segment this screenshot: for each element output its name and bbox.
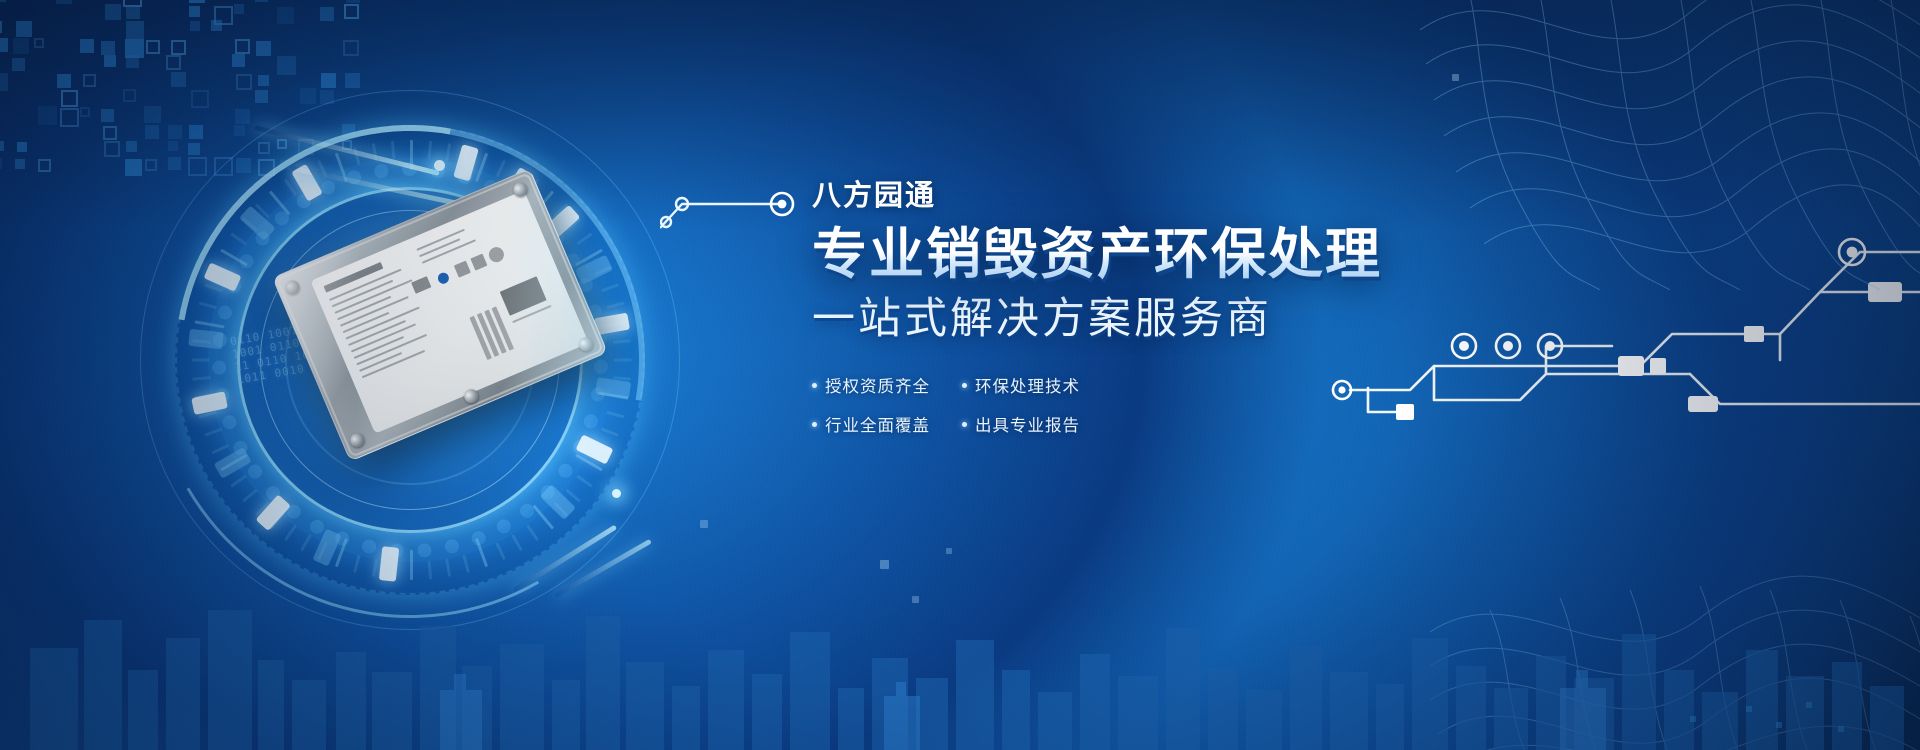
bullet-dot-icon — [812, 422, 817, 427]
bullet-dot-icon — [962, 422, 967, 427]
hero-banner: 0110 1001 1001 1001 1001 0110 1011 0010 … — [0, 0, 1920, 750]
feature-item-4: 出具专业报告 — [962, 412, 1094, 436]
feature-label: 授权资质齐全 — [825, 373, 930, 397]
headline: 专业销毁资产环保处理 — [812, 225, 1432, 283]
brand-name: 八方园通 — [812, 182, 1432, 211]
subheadline: 一站式解决方案服务商 — [812, 295, 1432, 343]
feature-label: 行业全面覆盖 — [825, 412, 930, 436]
feature-item-1: 授权资质齐全 — [812, 373, 944, 397]
feature-label: 环保处理技术 — [975, 373, 1080, 397]
feature-label: 出具专业报告 — [975, 412, 1080, 436]
feature-list: 授权资质齐全 环保处理技术 行业全面覆盖 出具专业报告 — [812, 373, 1432, 436]
bullet-dot-icon — [962, 383, 967, 388]
feature-item-2: 环保处理技术 — [962, 373, 1094, 397]
bullet-dot-icon — [812, 383, 817, 388]
banner-copy-block: 八方园通 专业销毁资产环保处理 一站式解决方案服务商 授权资质齐全 环保处理技术… — [812, 182, 1432, 436]
feature-item-3: 行业全面覆盖 — [812, 412, 944, 436]
